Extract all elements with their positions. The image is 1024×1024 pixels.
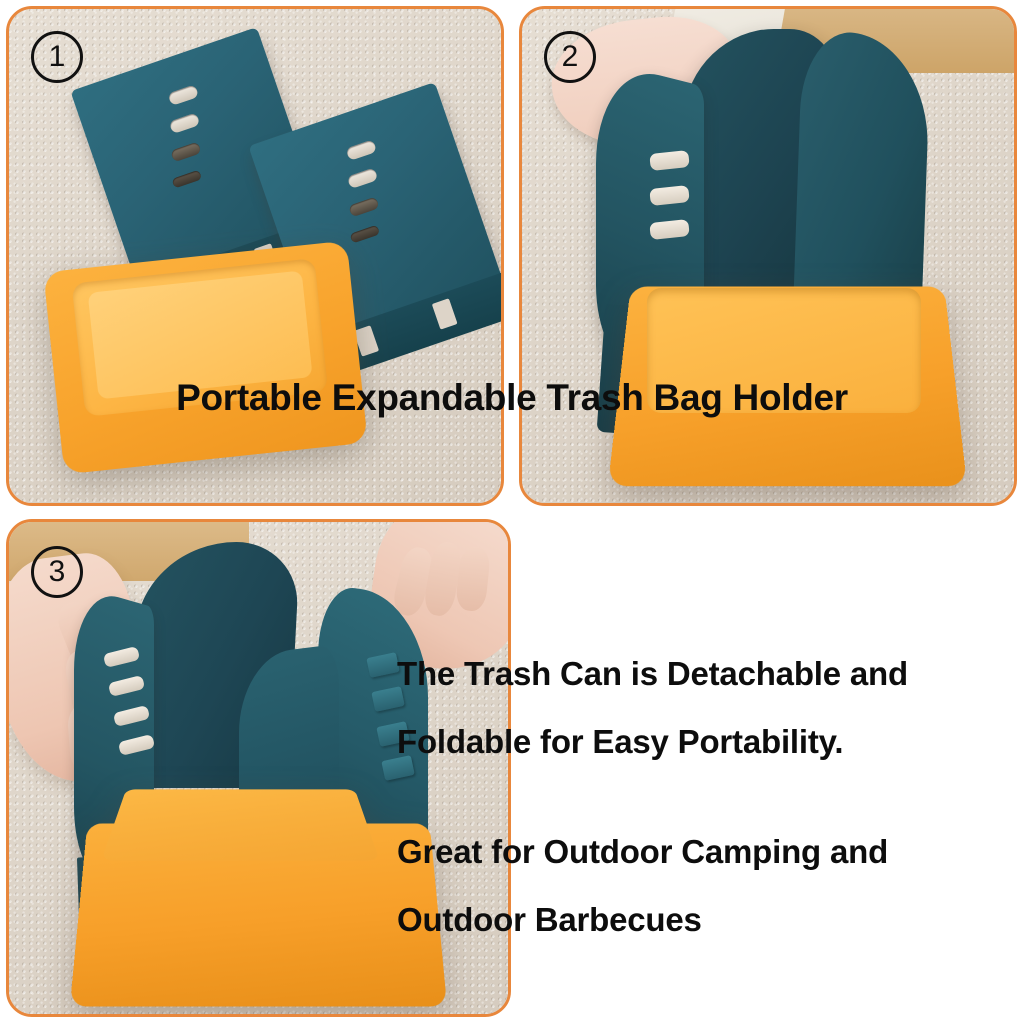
infographic-canvas: 1 2 <box>0 0 1024 1024</box>
product-photo-2 <box>522 9 1014 503</box>
step-badge-1: 1 <box>31 31 83 83</box>
orange-base-tray <box>44 241 369 474</box>
feature-line-3: Great for Outdoor Camping and <box>397 818 1022 886</box>
feature-line-4: Outdoor Barbecues <box>397 886 1022 954</box>
feature-spacer <box>397 776 1022 818</box>
product-title: Portable Expandable Trash Bag Holder <box>0 377 1024 419</box>
product-panel-2: 2 <box>519 6 1017 506</box>
orange-base-tray <box>79 817 438 1004</box>
feature-line-1: The Trash Can is Detachable and <box>397 640 1022 708</box>
feature-line-2: Foldable for Easy Portability. <box>397 708 1022 776</box>
step-badge-3: 3 <box>31 546 83 598</box>
step-badge-2: 2 <box>544 31 596 83</box>
product-photo-1 <box>9 9 501 503</box>
feature-text-block: The Trash Can is Detachable and Foldable… <box>397 640 1022 954</box>
product-panel-1: 1 <box>6 6 504 506</box>
tray-cavity <box>101 789 380 860</box>
